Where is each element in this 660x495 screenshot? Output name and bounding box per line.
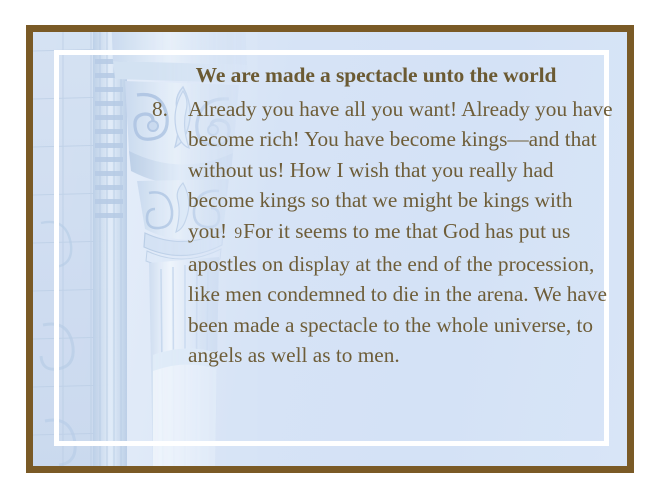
list-item-marker: 8. xyxy=(152,94,168,124)
slide-root: We are made a spectacle unto the world 8… xyxy=(0,0,660,495)
slide-outer-border: We are made a spectacle unto the world 8… xyxy=(26,25,634,473)
list-item-text: Already you have all you want! Already y… xyxy=(188,97,613,367)
slide-title: We are made a spectacle unto the world xyxy=(133,64,619,88)
slide-body-list: 8. Already you have all you want! Alread… xyxy=(145,94,615,371)
slide-content: We are made a spectacle unto the world 8… xyxy=(33,32,627,466)
body-segment-text-2: For it seems to me that God has put us a… xyxy=(188,219,607,368)
list-item: 8. Already you have all you want! Alread… xyxy=(145,94,615,371)
verse-number-marker: 9 xyxy=(232,225,243,242)
